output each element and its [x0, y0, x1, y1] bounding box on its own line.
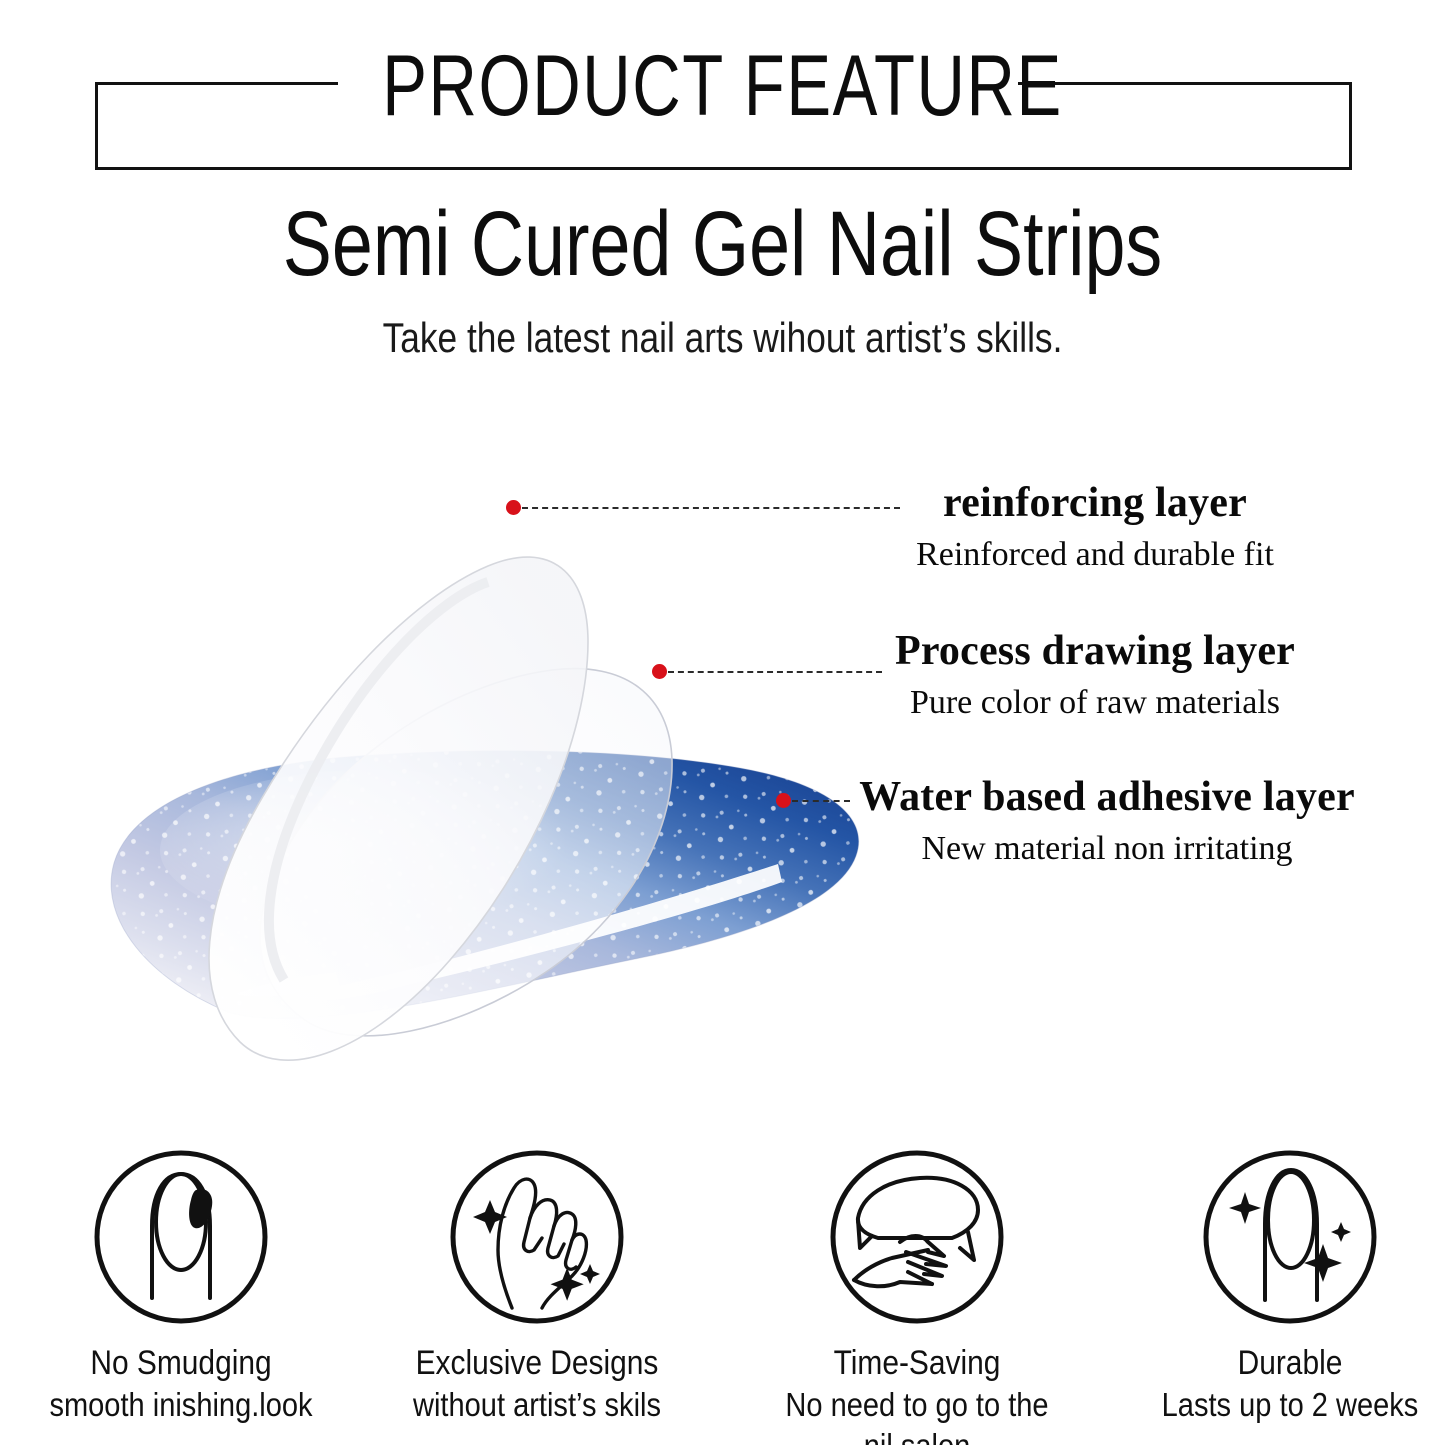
- feature-durable: Durable Lasts up to 2 weeks: [1110, 1148, 1445, 1425]
- page-subheadline: Take the latest nail arts wihout artist’…: [116, 312, 1330, 364]
- nail-smudge-icon: [92, 1148, 270, 1326]
- feature-subtitle: Lasts up to 2 weeks: [1132, 1384, 1445, 1425]
- reinforcing-layer-leader-line: [522, 507, 900, 509]
- manicured-hand-sparkle-icon: [448, 1148, 626, 1326]
- feature-title: Time-Saving: [759, 1342, 1076, 1384]
- feature-time-saving: Time-Saving No need to go to the nil sal…: [737, 1148, 1097, 1445]
- process-drawing-layer-marker-dot: [652, 664, 667, 679]
- callout-adhesive-layer: Water based adhesive layer New material …: [842, 772, 1372, 872]
- product-feature-infographic: PRODUCT FEATURE Semi Cured Gel Nail Stri…: [0, 0, 1445, 1445]
- feature-subtitle: without artist’s skils: [379, 1384, 696, 1425]
- page-headline: Semi Cured Gel Nail Strips: [145, 192, 1301, 296]
- gel-reinforcing-layer: [209, 557, 588, 1060]
- feature-subtitle: No need to go to the nil salon: [759, 1384, 1076, 1445]
- callout-subtitle: Pure color of raw materials: [860, 680, 1330, 726]
- callout-title: Process drawing layer: [860, 626, 1330, 676]
- uv-lamp-hand-icon: [828, 1148, 1006, 1326]
- feature-title: No Smudging: [23, 1342, 340, 1384]
- callout-reinforcing-layer: reinforcing layer Reinforced and durable…: [860, 478, 1330, 578]
- feature-exclusive-designs: Exclusive Designs without artist’s skils: [357, 1148, 717, 1425]
- callout-title: reinforcing layer: [860, 478, 1330, 528]
- feature-subtitle: smooth inishing.look: [23, 1384, 340, 1425]
- feature-title: Exclusive Designs: [379, 1342, 696, 1384]
- feature-no-smudging: No Smudging smooth inishing.look: [1, 1148, 361, 1425]
- callout-subtitle: New material non irritating: [842, 826, 1372, 872]
- durable-nail-sparkle-icon: [1201, 1148, 1379, 1326]
- gel-strip-layers-illustration: [40, 420, 900, 1110]
- reinforcing-layer-marker-dot: [506, 500, 521, 515]
- feature-title: Durable: [1132, 1342, 1445, 1384]
- callout-title: Water based adhesive layer: [842, 772, 1372, 822]
- callout-process-drawing-layer: Process drawing layer Pure color of raw …: [860, 626, 1330, 726]
- banner-title: PRODUCT FEATURE: [159, 38, 1286, 134]
- callout-subtitle: Reinforced and durable fit: [860, 532, 1330, 578]
- adhesive-layer-marker-dot: [776, 793, 791, 808]
- process-drawing-layer-leader-line: [668, 671, 882, 673]
